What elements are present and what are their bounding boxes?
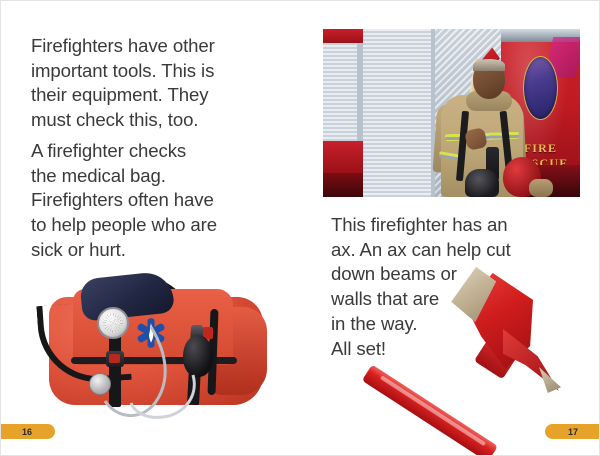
star-of-life-icon xyxy=(135,317,167,349)
pressure-gauge-icon xyxy=(97,307,129,339)
firefighter-glove xyxy=(529,179,553,197)
page-number-left: 16 xyxy=(0,424,55,439)
truck-rollup-door-b xyxy=(363,29,431,197)
truck-panel-top xyxy=(323,29,363,43)
page-number-right: 17 xyxy=(545,424,600,439)
stethoscope-chestpiece xyxy=(89,373,111,395)
truck-oval-emblem xyxy=(523,56,558,120)
cuff-bulb xyxy=(183,335,213,377)
left-page-paragraph-2: A firefighter checks the medical bag. Fi… xyxy=(31,139,269,263)
truck-panel-mid xyxy=(323,141,363,173)
firefighter-photo: FIRE RESCUE xyxy=(323,29,580,197)
book-page-spread: Firefighters have other important tools.… xyxy=(0,0,600,456)
gauge-dial xyxy=(103,313,123,333)
scba-face-mask xyxy=(465,169,499,197)
firefighter-hair xyxy=(473,59,505,71)
medical-bag-photo xyxy=(43,269,271,429)
left-page-paragraph-1: Firefighters have other important tools.… xyxy=(31,34,285,133)
ax-handle-highlight xyxy=(380,375,486,446)
truck-panel-bottom xyxy=(323,173,363,197)
